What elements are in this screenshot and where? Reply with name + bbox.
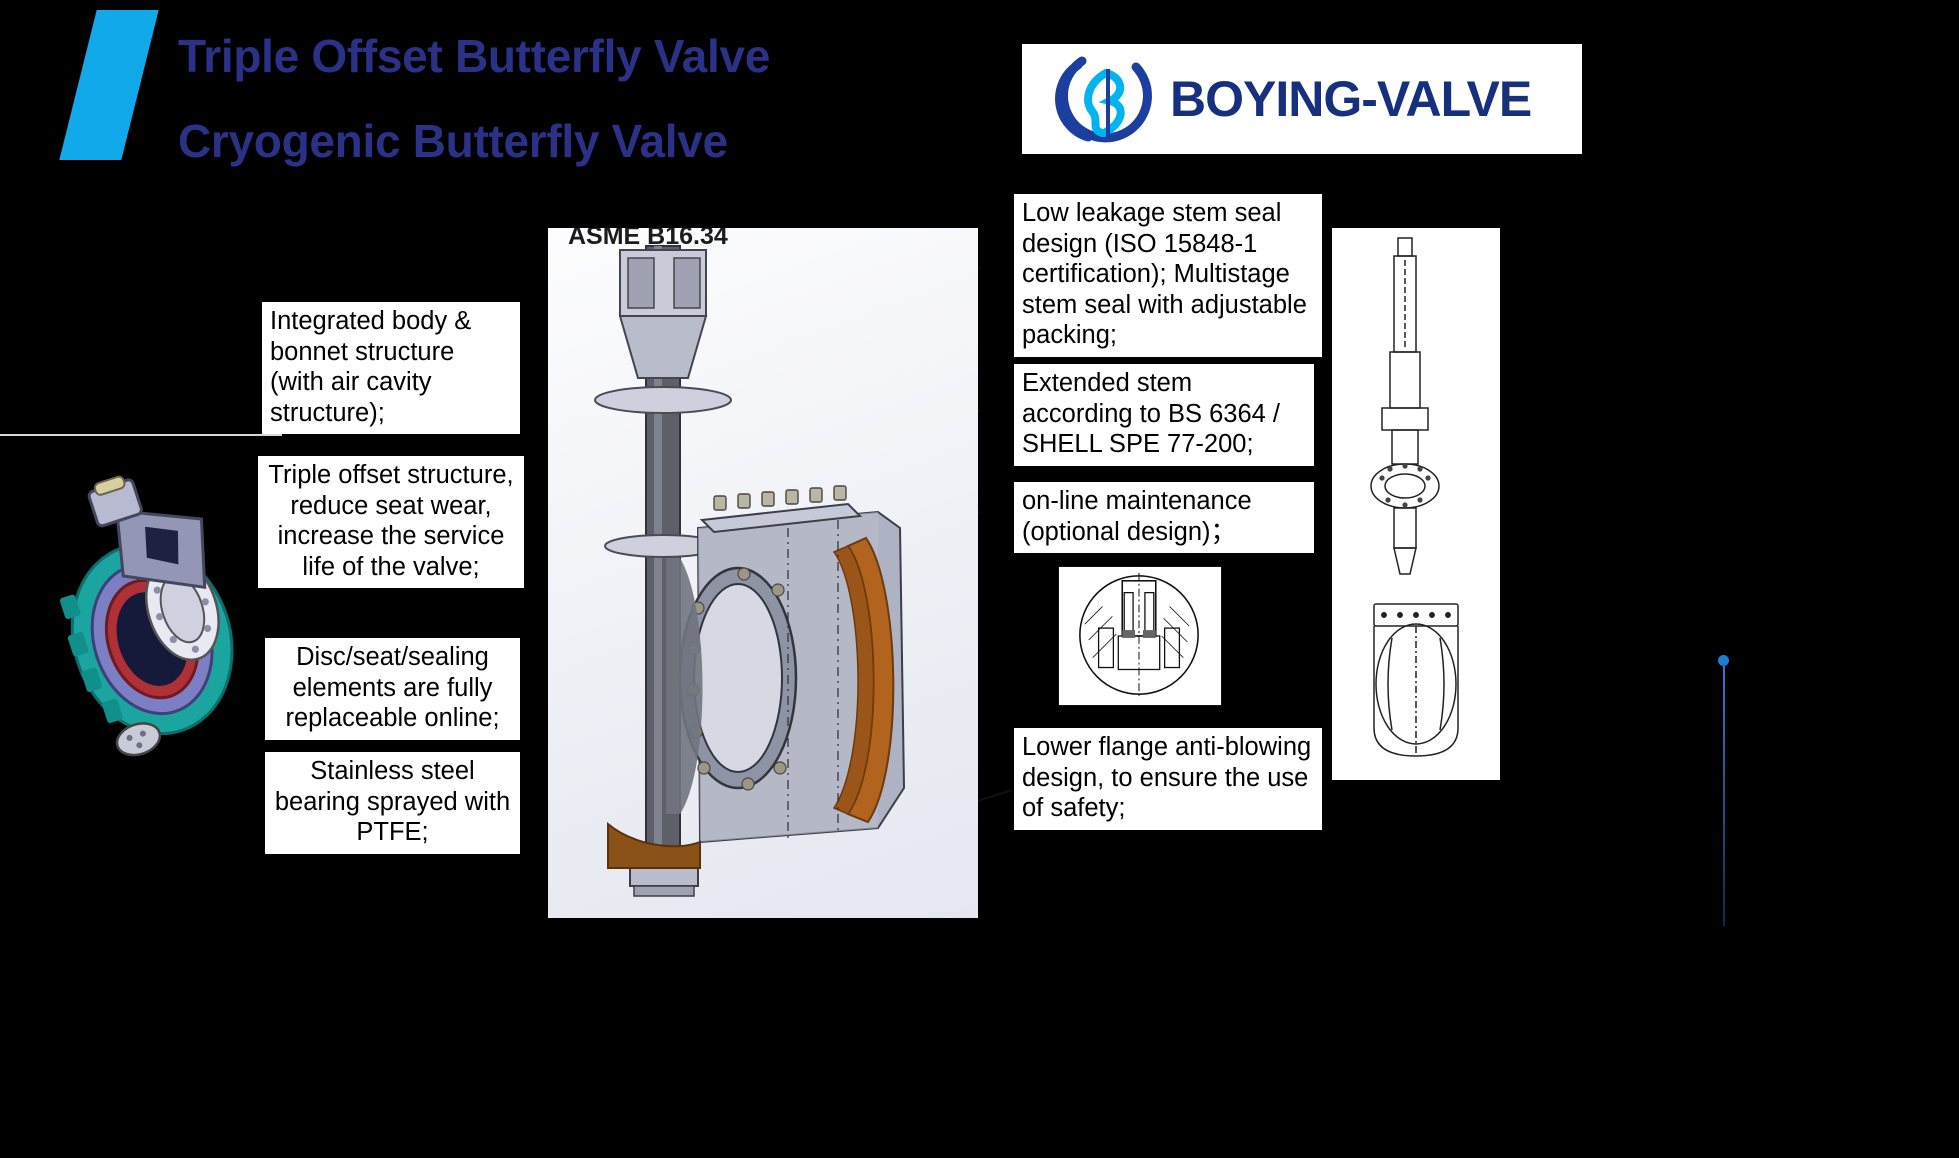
stem-and-body-drawings-image	[1332, 228, 1500, 780]
brand-name: BOYING-VALVE	[1170, 70, 1531, 128]
title-line-2: Cryogenic Butterfly Valve	[178, 99, 1008, 184]
callout-online-maintenance: on-line maintenance (optional design)；	[1014, 482, 1314, 553]
boying-b-icon	[1048, 53, 1156, 145]
brand-logo: BOYING-VALVE	[1022, 44, 1582, 154]
callout-anti-blowing: Lower flange anti-blowing design, to ens…	[1014, 728, 1322, 830]
callout-triple-offset: Triple offset structure, reduce seat wea…	[258, 456, 524, 588]
callout-stem-seal: Low leakage stem seal design (ISO 15848-…	[1014, 194, 1322, 357]
decorative-dot-icon	[1718, 655, 1729, 666]
callout-integrated-body: Integrated body & bonnet structure (with…	[262, 302, 520, 434]
valve-isometric-image	[30, 440, 290, 770]
callout-replaceable-online: Disc/seat/sealing elements are fully rep…	[265, 638, 520, 740]
title-line-1: Triple Offset Butterfly Valve	[178, 14, 1008, 99]
packing-gland-detail-image	[1058, 566, 1222, 706]
page-title: Triple Offset Butterfly Valve Cryogenic …	[178, 14, 1008, 184]
slide-root: Triple Offset Butterfly Valve Cryogenic …	[0, 0, 1959, 1158]
decorative-vertical-line	[1723, 666, 1725, 926]
callout-ptfe-bearing: Stainless steel bearing sprayed with PTF…	[265, 752, 520, 854]
accent-bar-icon	[59, 10, 158, 160]
callout-extended-stem: Extended stem according to BS 6364 / SHE…	[1014, 364, 1314, 466]
valve-section-image: ASME B16.34	[548, 228, 978, 918]
center-image-caption: ASME B16.34	[568, 228, 728, 251]
divider-line	[0, 434, 282, 436]
